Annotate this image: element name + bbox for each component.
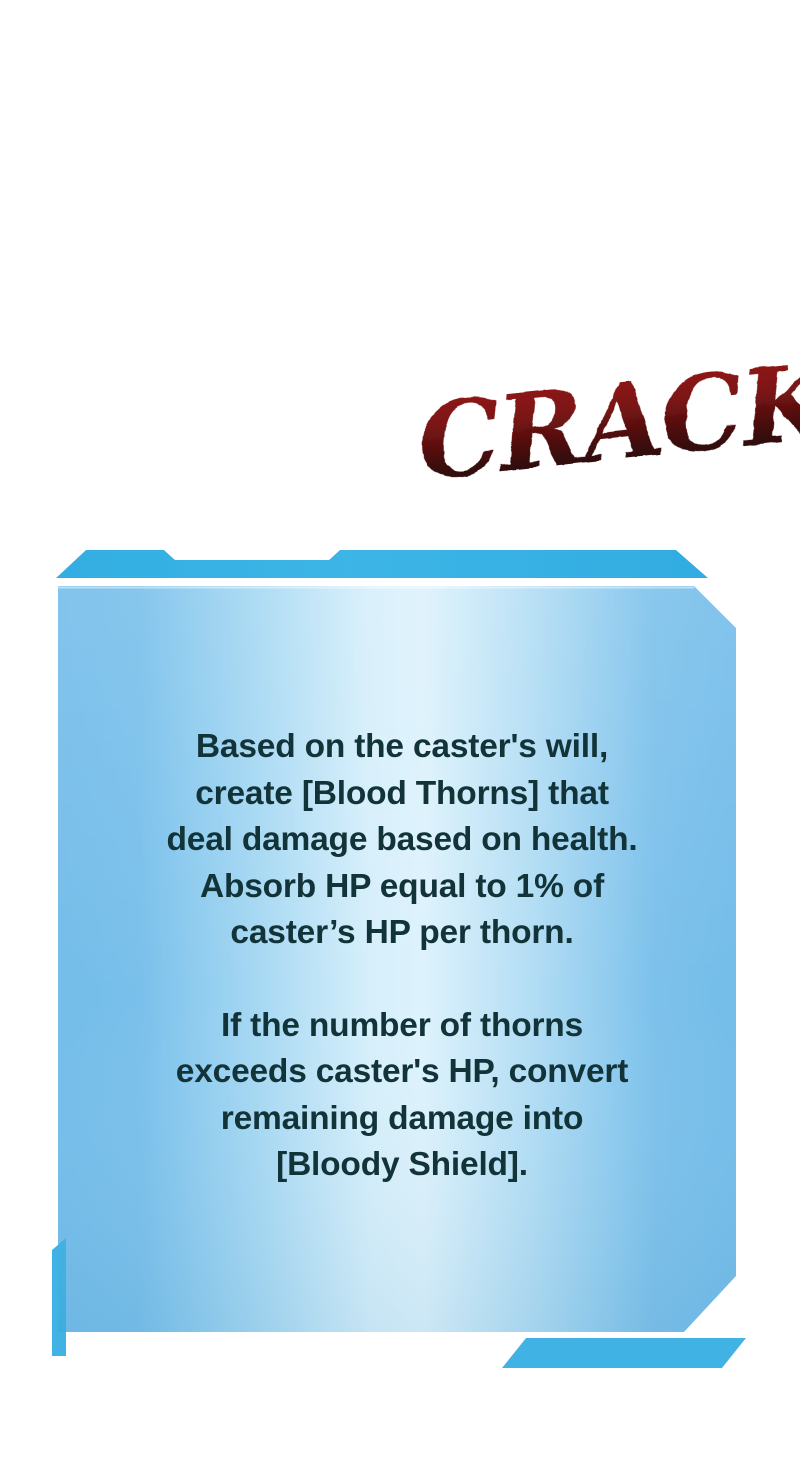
paragraph-spacer <box>146 957 658 1003</box>
description-line: [Bloody Shield]. <box>146 1142 658 1189</box>
description-line: If the number of thorns <box>146 1003 658 1050</box>
description-line: exceeds caster's HP, convert <box>146 1049 658 1096</box>
skill-panel: Based on the caster's will, create [Bloo… <box>46 532 758 1382</box>
crack-sfx-text: CRACK <box>412 338 800 504</box>
crack-sfx-layer: CRACK <box>470 350 780 510</box>
skill-description-text: Based on the caster's will, create [Bloo… <box>146 724 658 1189</box>
description-line: caster’s HP per thorn. <box>146 910 658 957</box>
panel-top-accent-bar <box>56 550 708 578</box>
panel-bottom-right-accent-bar <box>502 1338 746 1368</box>
description-line: Absorb HP equal to 1% of <box>146 864 658 911</box>
description-line: create [Blood Thorns] that <box>146 771 658 818</box>
crack-icon: CRACK <box>470 350 780 510</box>
description-paragraph-1: Based on the caster's will, create [Bloo… <box>146 724 658 957</box>
description-paragraph-2: If the number of thorns exceeds caster's… <box>146 1003 658 1189</box>
description-line: Based on the caster's will, <box>146 724 658 771</box>
description-line: remaining damage into <box>146 1096 658 1143</box>
description-line: deal damage based on health. <box>146 817 658 864</box>
page-root: CRACK <box>0 0 800 1460</box>
